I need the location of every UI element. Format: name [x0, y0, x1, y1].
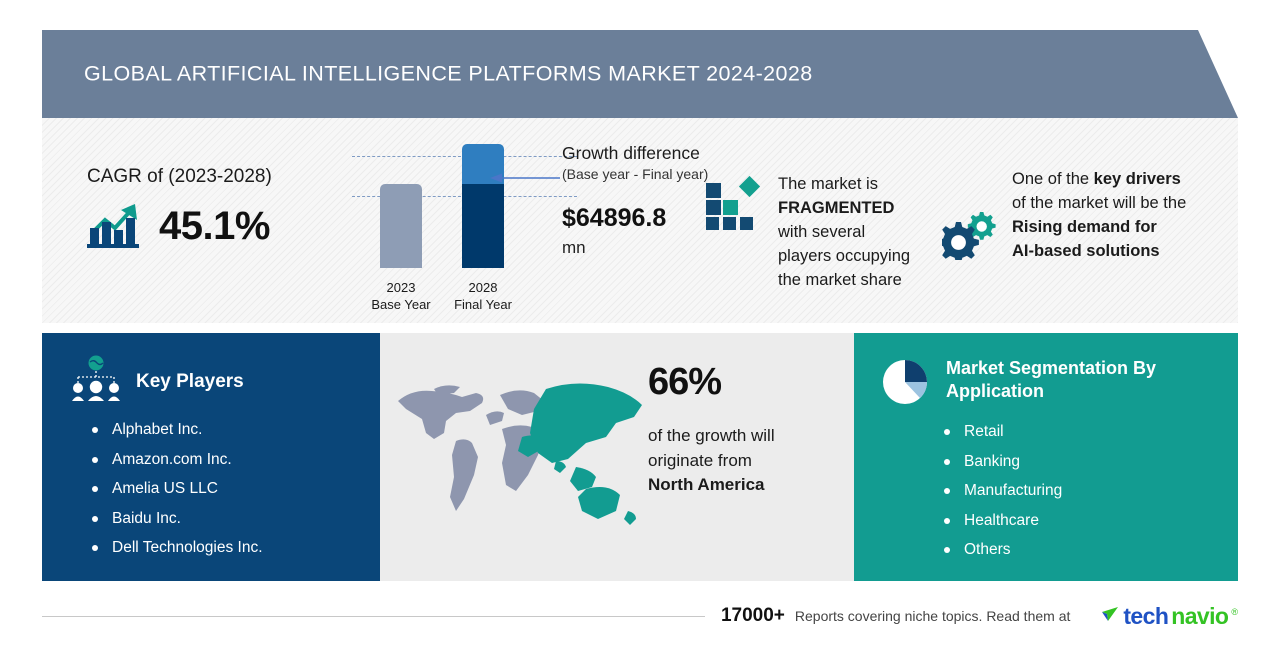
- footer-divider: [42, 616, 705, 617]
- list-item: Others: [944, 542, 1238, 558]
- list-item: Amazon.com Inc.: [92, 452, 380, 468]
- regional-growth-panel: 66% of the growth will originate from No…: [380, 333, 854, 581]
- header-corner-cut: [1198, 30, 1238, 118]
- world-map-icon: [390, 371, 650, 536]
- gears-icon: [942, 168, 998, 265]
- bar-base-year: [380, 184, 422, 268]
- key-players-list: Alphabet Inc. Amazon.com Inc. Amelia US …: [42, 422, 380, 556]
- regional-growth-text: 66% of the growth will originate from No…: [648, 361, 848, 498]
- cagr-value: 45.1%: [159, 204, 270, 249]
- growth-difference-title: Growth difference: [562, 143, 782, 164]
- bar-final-year-caption: 2028 Final Year: [438, 279, 528, 314]
- list-item: Alphabet Inc.: [92, 422, 380, 438]
- list-item: Banking: [944, 454, 1238, 470]
- arrow-left-icon: [490, 170, 560, 180]
- key-players-header: Key Players: [42, 333, 380, 408]
- list-item: Manufacturing: [944, 483, 1238, 499]
- cagr-block: CAGR of (2023-2028) 45.1%: [87, 166, 377, 253]
- growth-bar-chart: 2023 Base Year 2028 Final Year: [352, 136, 542, 316]
- technavio-logo[interactable]: tech navio ®: [1100, 603, 1238, 630]
- key-drivers-text: One of the key drivers of the market wil…: [1012, 168, 1186, 264]
- bar-base-year-caption: 2023 Base Year: [356, 279, 446, 314]
- bar-chart-growth-icon: [87, 200, 143, 253]
- top-stats-strip: CAGR of (2023-2028) 45.1%: [42, 118, 1238, 323]
- fragmented-squares-icon: [704, 173, 762, 236]
- market-segmentation-header: Market Segmentation By Application: [854, 333, 1238, 412]
- market-segmentation-panel: Market Segmentation By Application Retai…: [854, 333, 1238, 581]
- logo-text-navio: navio: [1171, 603, 1228, 630]
- list-item: Healthcare: [944, 513, 1238, 529]
- header-banner: GLOBAL ARTIFICIAL INTELLIGENCE PLATFORMS…: [42, 30, 1238, 118]
- logo-text-tech: tech: [1123, 603, 1168, 630]
- growth-percentage: 66%: [648, 361, 848, 404]
- bar-final-year-base-segment: [462, 184, 504, 268]
- footer-content: 17000+ Reports covering niche topics. Re…: [705, 603, 1238, 630]
- list-item: Retail: [944, 424, 1238, 440]
- key-players-panel: Key Players Alphabet Inc. Amazon.com Inc…: [42, 333, 380, 581]
- list-item: Dell Technologies Inc.: [92, 540, 380, 556]
- logo-trademark: ®: [1231, 607, 1238, 617]
- infographic-canvas: GLOBAL ARTIFICIAL INTELLIGENCE PLATFORMS…: [0, 0, 1279, 670]
- pie-chart-icon: [880, 357, 930, 412]
- list-item: Amelia US LLC: [92, 481, 380, 497]
- cagr-label: CAGR of (2023-2028): [87, 166, 377, 188]
- list-item: Baidu Inc.: [92, 511, 380, 527]
- footer: 17000+ Reports covering niche topics. Re…: [42, 596, 1238, 636]
- growth-region-description: of the growth will originate from North …: [648, 424, 848, 498]
- key-drivers-block: One of the key drivers of the market wil…: [942, 168, 1186, 265]
- key-players-title: Key Players: [136, 371, 244, 393]
- market-fragmentation-block: The market is FRAGMENTED with several pl…: [704, 173, 910, 293]
- footer-tagline: Reports covering niche topics. Read them…: [795, 608, 1070, 624]
- market-segmentation-title: Market Segmentation By Application: [946, 357, 1156, 402]
- market-segmentation-list: Retail Banking Manufacturing Healthcare …: [854, 424, 1238, 558]
- reports-count: 17000+: [721, 605, 785, 627]
- market-fragmentation-text: The market is FRAGMENTED with several pl…: [778, 173, 910, 293]
- globe-network-people-icon: [70, 355, 122, 408]
- page-title: GLOBAL ARTIFICIAL INTELLIGENCE PLATFORMS…: [84, 62, 813, 87]
- logo-arrow-icon: [1100, 604, 1120, 629]
- bar-final-year: [462, 144, 504, 268]
